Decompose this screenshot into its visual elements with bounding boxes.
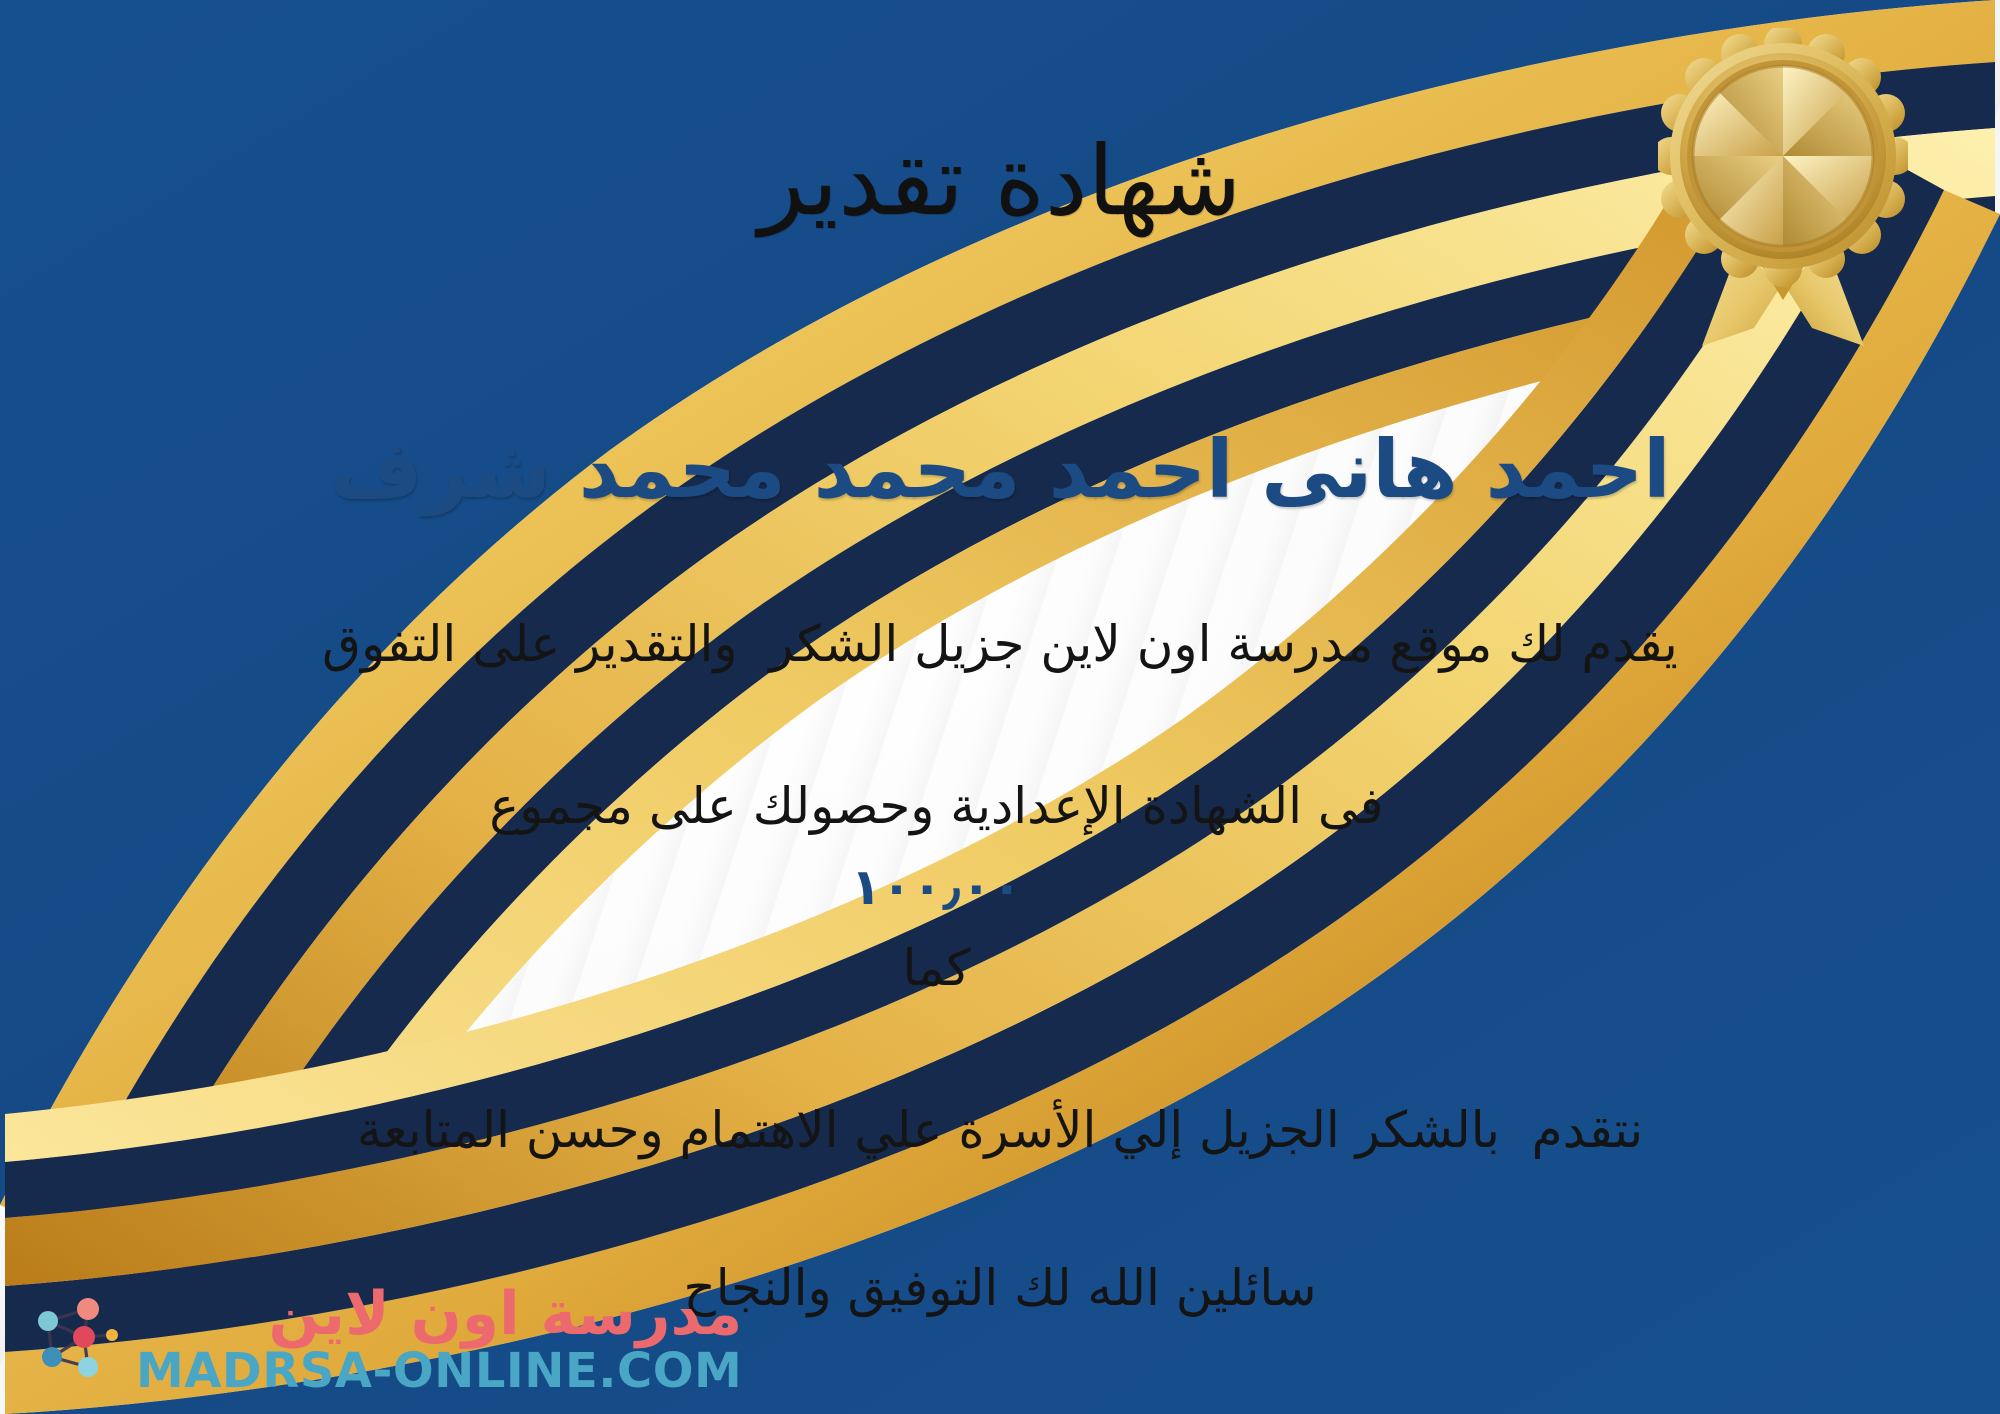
brand-logo[interactable]: مدرسة اون لاين MADRSA-ONLINE.COM (26, 1283, 742, 1396)
certificate-body: يقدم لك موقع مدرسة اون لاين جزيل الشكر و… (150, 604, 1850, 1171)
body-line-3: نتقدم بالشكر الجزيل إلي الأسرة علي الاهت… (150, 1090, 1850, 1171)
certificate-content: شهادة تقدير احمد هانى احمد محمد محمد شرف… (0, 0, 2000, 1414)
body-line-2-suffix: كما (902, 939, 970, 997)
brand-domain: MADRSA-ONLINE.COM (136, 1346, 742, 1396)
body-line-2: فى الشهادة الإعدادية وحصولك على مجموع ١٠… (150, 685, 1850, 1090)
closing-wish-line: سائلين الله لك التوفيق والنجاح (683, 1259, 1316, 1317)
network-nodes-icon (26, 1291, 122, 1387)
recipient-name: احمد هانى احمد محمد محمد شرف (330, 422, 1671, 518)
body-line-1: يقدم لك موقع مدرسة اون لاين جزيل الشكر و… (150, 604, 1850, 685)
certificate-title: شهادة تقدير (759, 128, 1242, 236)
grade-total-value: ١٠٠٫٠٠ (825, 858, 1048, 916)
brand-wordmark: مدرسة اون لاين MADRSA-ONLINE.COM (136, 1283, 742, 1396)
brand-arabic-name: مدرسة اون لاين (268, 1283, 742, 1346)
certificate-page: شهادة تقدير احمد هانى احمد محمد محمد شرف… (0, 0, 2000, 1414)
body-line-2-prefix: فى الشهادة الإعدادية وحصولك على مجموع (489, 777, 1383, 835)
